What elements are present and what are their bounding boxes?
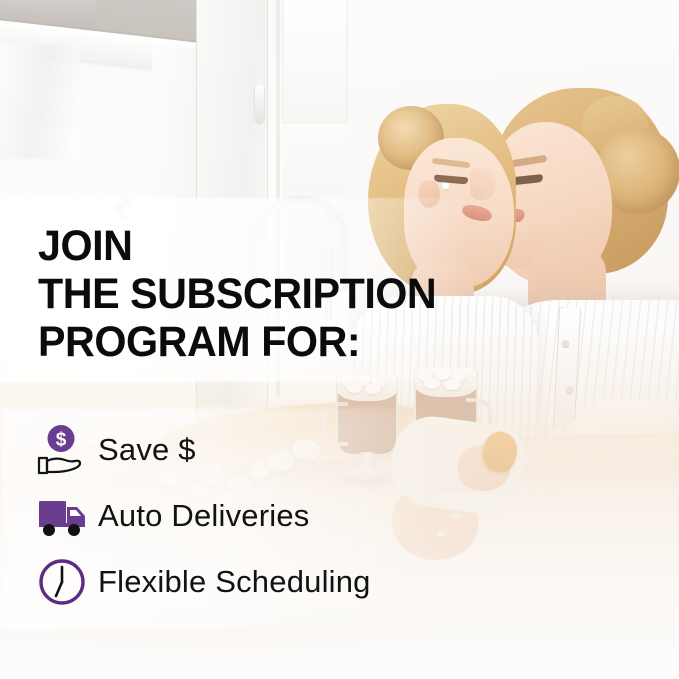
page-title: JOIN THE SUBSCRIPTION PROGRAM FOR: [38, 222, 436, 366]
list-item-auto-deliveries: Auto Deliveries [34, 484, 454, 548]
benefit-label-save: Save $ [92, 433, 196, 467]
clock-icon [34, 553, 92, 611]
benefit-label-flexible-scheduling: Flexible Scheduling [92, 565, 371, 599]
promo-content: JOIN THE SUBSCRIPTION PROGRAM FOR: $ Sav… [0, 0, 679, 679]
promo-card: JOIN THE SUBSCRIPTION PROGRAM FOR: $ Sav… [0, 0, 679, 679]
delivery-truck-icon [34, 487, 92, 545]
list-item-flexible-scheduling: Flexible Scheduling [34, 550, 454, 614]
svg-text:$: $ [56, 430, 67, 451]
money-in-hand-icon: $ [34, 421, 92, 479]
benefit-label-auto-deliveries: Auto Deliveries [92, 499, 309, 533]
list-item-save: $ Save $ [34, 418, 454, 482]
benefits-list: $ Save $ [34, 418, 454, 616]
